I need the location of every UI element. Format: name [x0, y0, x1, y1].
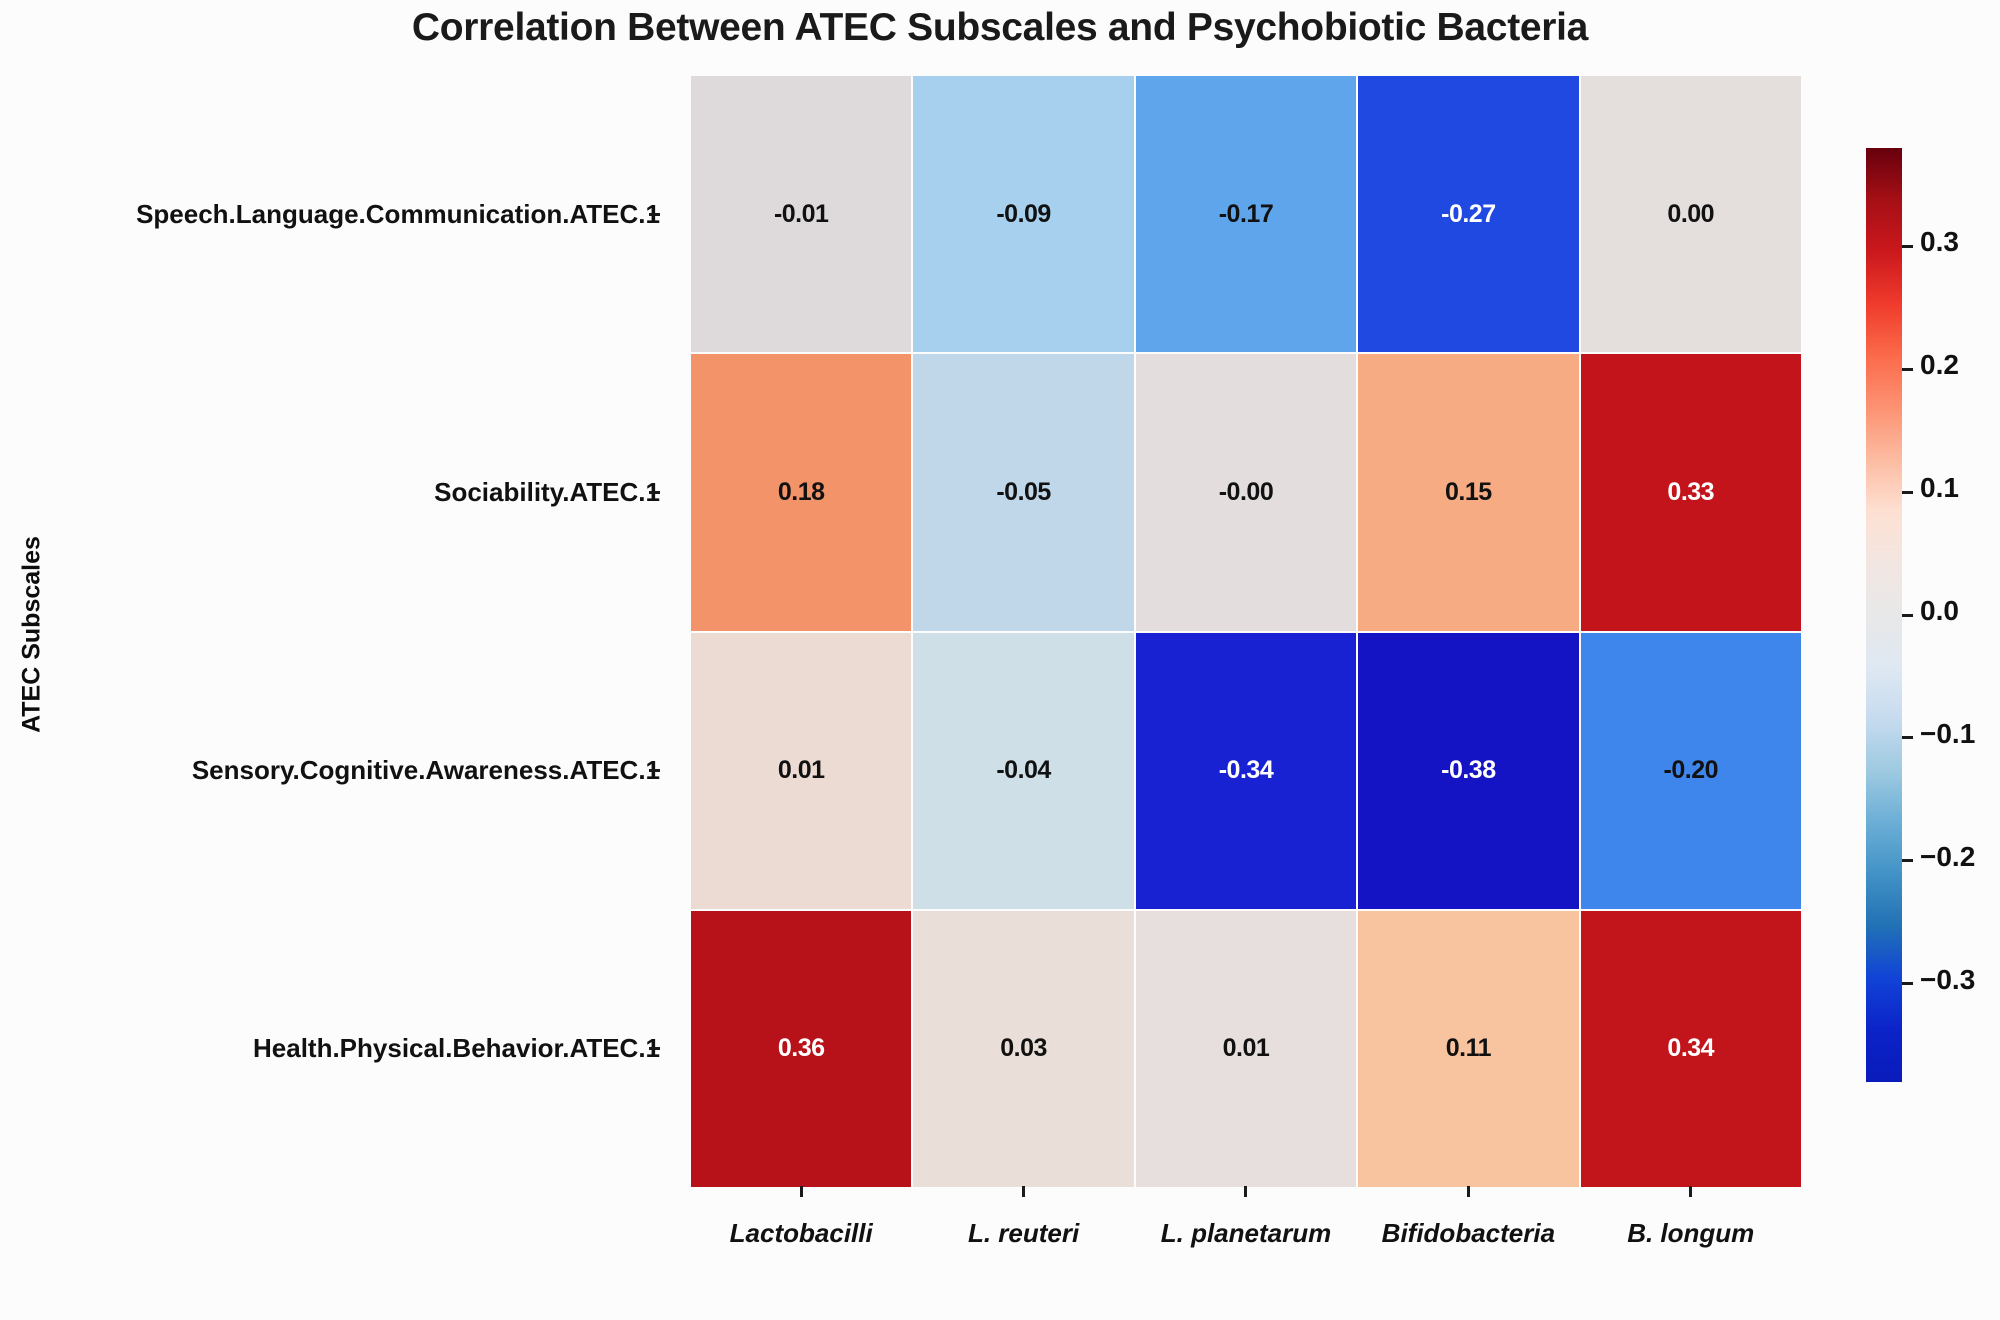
heatmap-cell-value: 0.18	[778, 478, 825, 507]
heatmap-cell[interactable]: 0.11	[1357, 910, 1579, 1188]
heatmap-cell[interactable]: 0.01	[690, 632, 912, 910]
heatmap-cell[interactable]: -0.34	[1135, 632, 1357, 910]
colorbar-tick-mark	[1902, 614, 1913, 617]
heatmap-cell[interactable]: 0.36	[690, 910, 912, 1188]
y-axis-tick-label: Speech.Language.Communication.ATEC.1	[0, 75, 660, 353]
colorbar-tick-label: −0.2	[1920, 841, 1975, 873]
colorbar-tick-mark	[1902, 491, 1913, 494]
x-axis-tick-label: B. longum	[1580, 1196, 1802, 1256]
x-axis-tick-text: B. longum	[1627, 1218, 1754, 1248]
heatmap-row: 0.01-0.04-0.34-0.38-0.20	[690, 632, 1802, 910]
heatmap-cell[interactable]: -0.17	[1135, 75, 1357, 353]
heatmap-cell-value: -0.27	[1441, 200, 1495, 229]
x-axis-tick-mark	[1244, 1186, 1247, 1197]
x-axis-tick-label: Bifidobacteria	[1357, 1196, 1579, 1256]
y-axis-tick-mark	[649, 1047, 660, 1050]
heatmap-row: 0.360.030.010.110.34	[690, 910, 1802, 1188]
heatmap-cell-value: 0.01	[1223, 1034, 1270, 1063]
y-axis-tick-mark	[649, 769, 660, 772]
heatmap-cell-value: -0.01	[774, 200, 828, 229]
x-axis-tick-mark	[1467, 1186, 1470, 1197]
y-axis-tick-label: Sociability.ATEC.1	[0, 353, 660, 631]
colorbar-tick-label: 0.2	[1920, 349, 1959, 381]
heatmap-row: -0.01-0.09-0.17-0.270.00	[690, 75, 1802, 353]
page-title: Correlation Between ATEC Subscales and P…	[0, 6, 2000, 50]
colorbar-tick-label: 0.3	[1920, 226, 1959, 258]
heatmap-cell-value: -0.04	[996, 756, 1050, 785]
heatmap-cell[interactable]: 0.33	[1580, 353, 1802, 631]
colorbar-tick-mark	[1902, 368, 1913, 371]
heatmap-cell[interactable]: 0.01	[1135, 910, 1357, 1188]
heatmap-cell[interactable]: 0.18	[690, 353, 912, 631]
colorbar-tick-mark	[1902, 982, 1913, 985]
colorbar-tick-label: −0.3	[1920, 964, 1975, 996]
heatmap-cell-value: -0.09	[996, 200, 1050, 229]
heatmap-cell[interactable]: -0.04	[912, 632, 1134, 910]
x-axis-tick-mark	[1689, 1186, 1692, 1197]
x-axis-tick-labels: LactobacilliL. reuteriL. planetarumBifid…	[690, 1196, 1802, 1256]
heatmap-cell-value: 0.33	[1667, 478, 1714, 507]
x-axis-tick-label: L. planetarum	[1135, 1196, 1357, 1256]
heatmap-cell[interactable]: -0.27	[1357, 75, 1579, 353]
heatmap-cell-value: 0.11	[1446, 1034, 1491, 1063]
x-axis-tick-mark	[800, 1186, 803, 1197]
heatmap-row: 0.18-0.05-0.000.150.33	[690, 353, 1802, 631]
colorbar-tick-label: −0.1	[1920, 718, 1975, 750]
colorbar-tick-mark	[1902, 859, 1913, 862]
x-axis-tick-label: L. reuteri	[912, 1196, 1134, 1256]
heatmap-cell[interactable]: 0.00	[1580, 75, 1802, 353]
heatmap-cell[interactable]: -0.00	[1135, 353, 1357, 631]
colorbar-tick-label: 0.0	[1920, 595, 1959, 627]
x-axis-tick-text: L. planetarum	[1161, 1218, 1331, 1248]
heatmap-cell-value: -0.38	[1441, 756, 1495, 785]
y-axis-tick-label: Health.Physical.Behavior.ATEC.1	[0, 910, 660, 1188]
y-axis-tick-mark	[649, 213, 660, 216]
heatmap-cell-value: 0.00	[1667, 200, 1714, 229]
heatmap-cell[interactable]: 0.34	[1580, 910, 1802, 1188]
y-axis-tick-text: Sensory.Cognitive.Awareness.ATEC.1	[192, 755, 660, 786]
y-axis-tick-labels: Speech.Language.Communication.ATEC.1Soci…	[0, 75, 674, 1188]
heatmap-cell[interactable]: -0.05	[912, 353, 1134, 631]
colorbar-tick-mark	[1902, 245, 1913, 248]
heatmap-cell-value: 0.34	[1667, 1034, 1714, 1063]
heatmap-cell-value: 0.15	[1445, 478, 1492, 507]
colorbar-tick-mark	[1902, 736, 1913, 739]
heatmap-cell[interactable]: 0.03	[912, 910, 1134, 1188]
x-axis-tick-text: Lactobacilli	[730, 1218, 873, 1248]
y-axis-tick-label: Sensory.Cognitive.Awareness.ATEC.1	[0, 632, 660, 910]
heatmap-cell-value: -0.20	[1664, 756, 1718, 785]
heatmap-cell-value: -0.34	[1219, 756, 1273, 785]
colorbar: 0.30.20.10.0−0.1−0.2−0.3	[1866, 148, 1996, 1088]
heatmap-cell-value: -0.17	[1219, 200, 1273, 229]
y-axis-tick-text: Sociability.ATEC.1	[434, 477, 660, 508]
heatmap-grid: -0.01-0.09-0.17-0.270.000.18-0.05-0.000.…	[690, 75, 1802, 1188]
heatmap-cell-value: 0.36	[778, 1034, 825, 1063]
heatmap-cell-value: -0.00	[1219, 478, 1273, 507]
heatmap-cell[interactable]: 0.15	[1357, 353, 1579, 631]
x-axis-tick-label: Lactobacilli	[690, 1196, 912, 1256]
x-axis-tick-mark	[1022, 1186, 1025, 1197]
heatmap-cell-value: -0.05	[996, 478, 1050, 507]
heatmap-cell[interactable]: -0.38	[1357, 632, 1579, 910]
heatmap-cell[interactable]: -0.20	[1580, 632, 1802, 910]
y-axis-tick-text: Health.Physical.Behavior.ATEC.1	[253, 1033, 660, 1064]
y-axis-tick-text: Speech.Language.Communication.ATEC.1	[136, 199, 660, 230]
x-axis-tick-text: L. reuteri	[968, 1218, 1079, 1248]
heatmap-cell-value: 0.01	[778, 756, 825, 785]
colorbar-gradient	[1866, 148, 1902, 1082]
heatmap-cell-value: 0.03	[1000, 1034, 1047, 1063]
colorbar-tick-label: 0.1	[1920, 472, 1959, 504]
heatmap-cell[interactable]: -0.09	[912, 75, 1134, 353]
y-axis-tick-mark	[649, 491, 660, 494]
heatmap-cell[interactable]: -0.01	[690, 75, 912, 353]
x-axis-tick-text: Bifidobacteria	[1382, 1218, 1555, 1248]
